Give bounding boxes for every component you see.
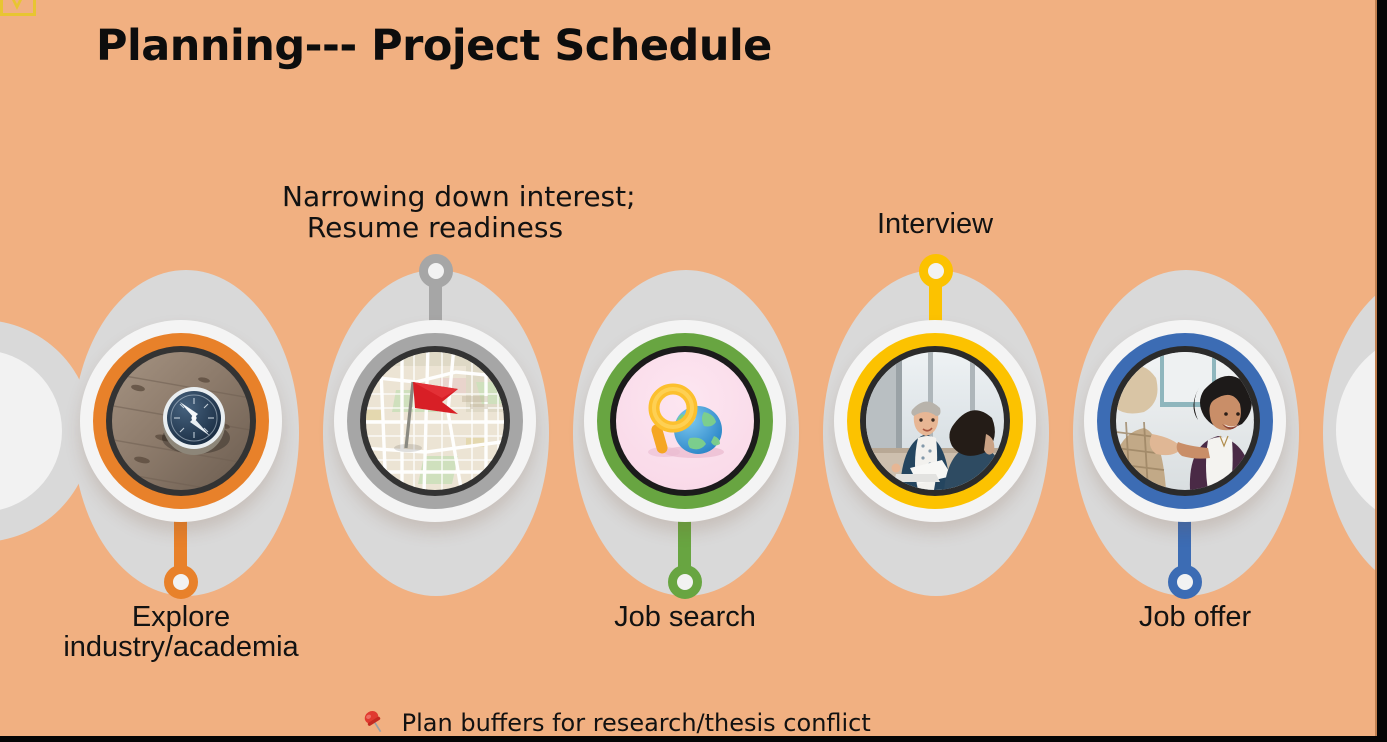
timeline-node-job-search[interactable] <box>584 320 786 522</box>
timeline-node-explore[interactable] <box>80 320 282 522</box>
connector-dot-explore <box>164 565 198 599</box>
connector-dot-narrowing <box>419 254 453 288</box>
callout-badge <box>0 0 36 16</box>
handshake-photo-icon <box>1116 352 1254 490</box>
slide-canvas: Explore industry/academia <box>0 0 1387 742</box>
node-label-job-offer: Job offer <box>1084 603 1306 633</box>
interview-photo-icon <box>866 352 1004 490</box>
node-label-explore: Explore industry/academia <box>40 603 322 663</box>
callout-tail-inner-icon <box>12 0 22 4</box>
map-with-red-flag-icon <box>366 352 504 490</box>
magnifier-and-globe-icon <box>616 352 754 490</box>
connector-dot-job-search <box>668 565 702 599</box>
timeline-node-narrowing[interactable] <box>334 320 536 522</box>
footnote-text: Plan buffers for research/thesis conflic… <box>402 709 871 737</box>
page-title: Planning--- Project Schedule <box>96 21 772 71</box>
node-label-interview: Interview <box>824 210 1046 240</box>
timeline-node-job-offer[interactable] <box>1084 320 1286 522</box>
slide-right-edge <box>1377 0 1387 742</box>
connector-dot-interview <box>919 254 953 288</box>
node-label-narrowing: Narrowing down interest; Resume readines… <box>282 182 588 244</box>
timeline-node-interview[interactable] <box>834 320 1036 522</box>
connector-dot-job-offer <box>1168 565 1202 599</box>
slide-bottom-edge <box>0 736 1387 742</box>
compass-on-wood-icon <box>112 352 250 490</box>
node-label-job-search: Job search <box>574 603 796 633</box>
